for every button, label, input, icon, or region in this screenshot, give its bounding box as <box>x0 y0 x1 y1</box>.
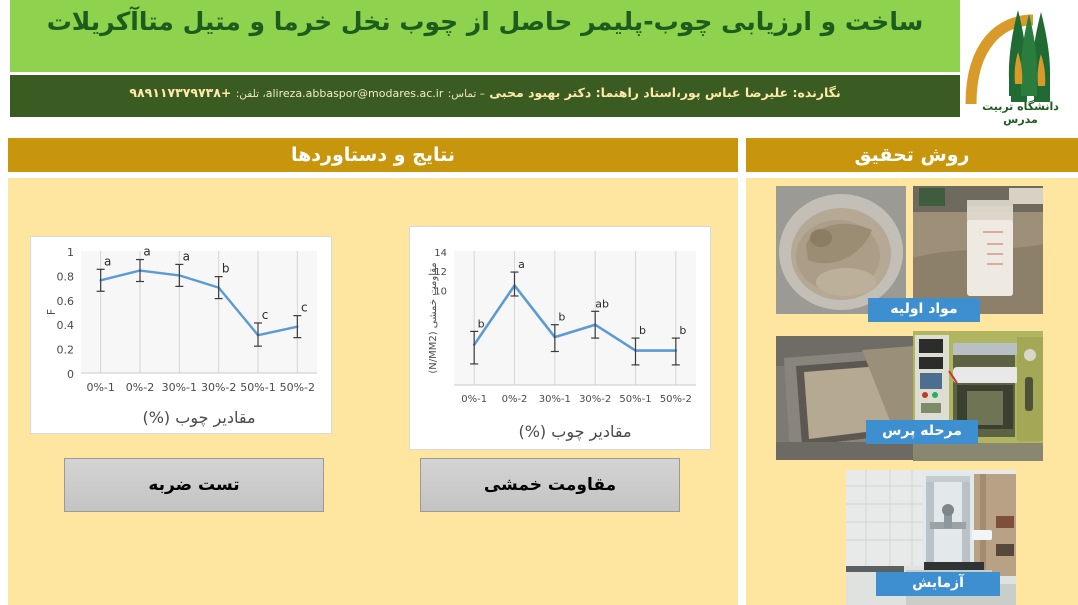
x-tick-label: 30%-2 <box>201 381 236 394</box>
x-tick-label: 50%-2 <box>280 381 315 394</box>
poster-root: ساخت و ارزیابی چوب-پلیمر حاصل از چوب نخل… <box>0 0 1078 605</box>
significance-letter: b <box>679 324 686 337</box>
photo-raw-powder <box>776 186 906 314</box>
x-axis-title: مقادیر چوب (%) <box>142 408 255 428</box>
y-tick-label: 0.8 <box>57 270 75 283</box>
logo-caption: دانشگاه تربیت مدرس <box>963 100 1078 126</box>
flexural-strength-button-label: مقاومت خمشی <box>421 459 679 511</box>
section-title-method: روش تحقیق <box>746 138 1078 172</box>
title-band: ساخت و ارزیابی چوب-پلیمر حاصل از چوب نخل… <box>10 0 960 72</box>
contact-email[interactable]: alireza.abbaspor@modares.ac.ir <box>266 87 444 100</box>
photo-beaker <box>913 186 1043 314</box>
y-tick-label: 14 <box>434 248 447 259</box>
caption-testing-text: آزمایش <box>912 575 964 591</box>
impact-chart: 00.20.40.60.81aaabcc0%-10%-230%-130%-250… <box>31 237 331 433</box>
significance-letter: b <box>558 311 565 324</box>
significance-letter: b <box>639 324 646 337</box>
significance-letter: b <box>222 262 230 276</box>
x-tick-label: 30%-1 <box>539 394 571 405</box>
x-axis-title: مقادیر چوب (%) <box>518 422 631 442</box>
x-tick-label: 30%-2 <box>579 394 611 405</box>
significance-letter: ab <box>595 297 609 310</box>
flexural-chart: 141210bababbb0%-10%-230%-130%-250%-150%-… <box>410 227 710 449</box>
x-tick-label: 50%-1 <box>240 381 275 394</box>
x-tick-label: 50%-1 <box>619 394 651 405</box>
plot-area <box>81 251 317 373</box>
significance-letter: b <box>478 317 485 330</box>
significance-letter: c <box>301 301 308 315</box>
x-tick-label: 0%-2 <box>126 381 154 394</box>
y-tick-label: 1 <box>67 246 74 259</box>
y-tick-label: 0 <box>67 368 74 381</box>
caption-press-stage: مرحله پرس <box>866 420 978 444</box>
authors-line: نگارنده: علیرضا عباس پور،استاد راهنما: د… <box>10 85 960 101</box>
flexural-strength-button[interactable]: مقاومت خمشی <box>420 458 680 512</box>
significance-letter: a <box>104 254 111 268</box>
impact-test-button-label: تست ضربه <box>65 459 323 511</box>
university-logo: دانشگاه تربیت مدرس <box>963 0 1078 130</box>
photo-beaker-image <box>913 186 1043 314</box>
caption-testing: آزمایش <box>876 572 1000 596</box>
y-axis-title: مقاومت خمشی (N/MM2) <box>428 262 439 373</box>
significance-letter: a <box>143 245 150 259</box>
phone-label: ، تلفن: <box>236 88 266 100</box>
x-tick-label: 0%-1 <box>86 381 114 394</box>
contact-phone: +۹۸۹۱۱۷۳۷۹۷۳۸ <box>129 85 231 100</box>
impact-test-button[interactable]: تست ضربه <box>64 458 324 512</box>
authors-names: نگارنده: علیرضا عباس پور،استاد راهنما: د… <box>489 85 840 100</box>
plot-area <box>454 251 696 385</box>
section-header-method: روش تحقیق <box>746 138 1078 172</box>
y-axis-title: F <box>45 309 58 315</box>
impact-chart-card: 00.20.40.60.81aaabcc0%-10%-230%-130%-250… <box>30 236 332 434</box>
impact-chart-svg: 00.20.40.60.81aaabcc0%-10%-230%-130%-250… <box>31 237 329 431</box>
logo-icon <box>963 0 1078 110</box>
photo-raw-powder-image <box>776 186 906 314</box>
caption-press-stage-text: مرحله پرس <box>882 423 962 439</box>
significance-letter: a <box>518 258 525 271</box>
caption-raw-materials-text: مواد اولیه <box>890 301 957 317</box>
page-title: ساخت و ارزیابی چوب-پلیمر حاصل از چوب نخل… <box>10 8 960 36</box>
x-tick-label: 0%-1 <box>461 394 487 405</box>
significance-letter: a <box>183 249 190 263</box>
caption-raw-materials: مواد اولیه <box>868 298 980 322</box>
y-tick-label: 0.4 <box>57 319 75 332</box>
x-tick-label: 50%-2 <box>660 394 692 405</box>
significance-letter: c <box>262 308 269 322</box>
y-tick-label: 0.6 <box>57 295 75 308</box>
x-tick-label: 0%-2 <box>502 394 528 405</box>
authors-band: نگارنده: علیرضا عباس پور،استاد راهنما: د… <box>10 75 960 117</box>
section-header-results: نتایج و دستاوردها <box>8 138 738 172</box>
contact-label: – تماس: <box>448 88 485 100</box>
flexural-chart-svg: 141210bababbb0%-10%-230%-130%-250%-150%-… <box>410 227 708 447</box>
y-tick-label: 0.2 <box>57 344 75 357</box>
section-title-results: نتایج و دستاوردها <box>8 138 738 172</box>
x-tick-label: 30%-1 <box>162 381 197 394</box>
flexural-chart-card: 141210bababbb0%-10%-230%-130%-250%-150%-… <box>409 226 711 450</box>
